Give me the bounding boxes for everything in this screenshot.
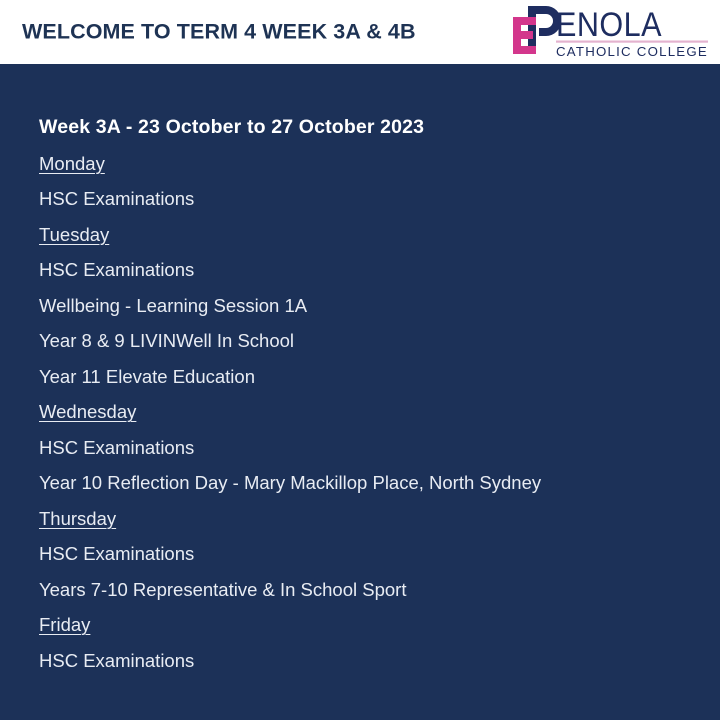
event-item: Year 11 Elevate Education	[39, 359, 706, 395]
day-heading-wednesday: Wednesday	[39, 394, 706, 430]
day-heading-monday: Monday	[39, 146, 706, 182]
day-heading-friday: Friday	[39, 607, 706, 643]
logo-mark-pink-p	[513, 17, 536, 54]
event-item: Wellbeing - Learning Session 1A	[39, 288, 706, 324]
page-header: WELCOME TO TERM 4 WEEK 3A & 4B ENOLA CAT…	[0, 0, 720, 64]
week-schedule: Week 3A - 23 October to 27 October 2023 …	[39, 110, 706, 678]
event-item: Year 8 & 9 LIVINWell In School	[39, 323, 706, 359]
event-item: HSC Examinations	[39, 252, 706, 288]
newsletter-page: WELCOME TO TERM 4 WEEK 3A & 4B ENOLA CAT…	[0, 0, 720, 720]
event-item: HSC Examinations	[39, 181, 706, 217]
logo-rule	[556, 41, 708, 43]
event-item: Year 10 Reflection Day - Mary Mackillop …	[39, 465, 706, 501]
day-heading-thursday: Thursday	[39, 501, 706, 537]
week-heading: Week 3A - 23 October to 27 October 2023	[39, 110, 706, 146]
event-item: HSC Examinations	[39, 643, 706, 679]
penola-catholic-college-logo: ENOLA CATHOLIC COLLEGE	[506, 2, 712, 62]
newsletter-body: Week 3A - 23 October to 27 October 2023 …	[0, 64, 720, 720]
page-title: WELCOME TO TERM 4 WEEK 3A & 4B	[22, 20, 416, 45]
logo-wordmark: ENOLA	[556, 6, 662, 44]
event-item: HSC Examinations	[39, 536, 706, 572]
event-item: Years 7-10 Representative & In School Sp…	[39, 572, 706, 608]
event-item: HSC Examinations	[39, 430, 706, 466]
day-heading-tuesday: Tuesday	[39, 217, 706, 253]
logo-tagline: CATHOLIC COLLEGE	[556, 44, 708, 59]
